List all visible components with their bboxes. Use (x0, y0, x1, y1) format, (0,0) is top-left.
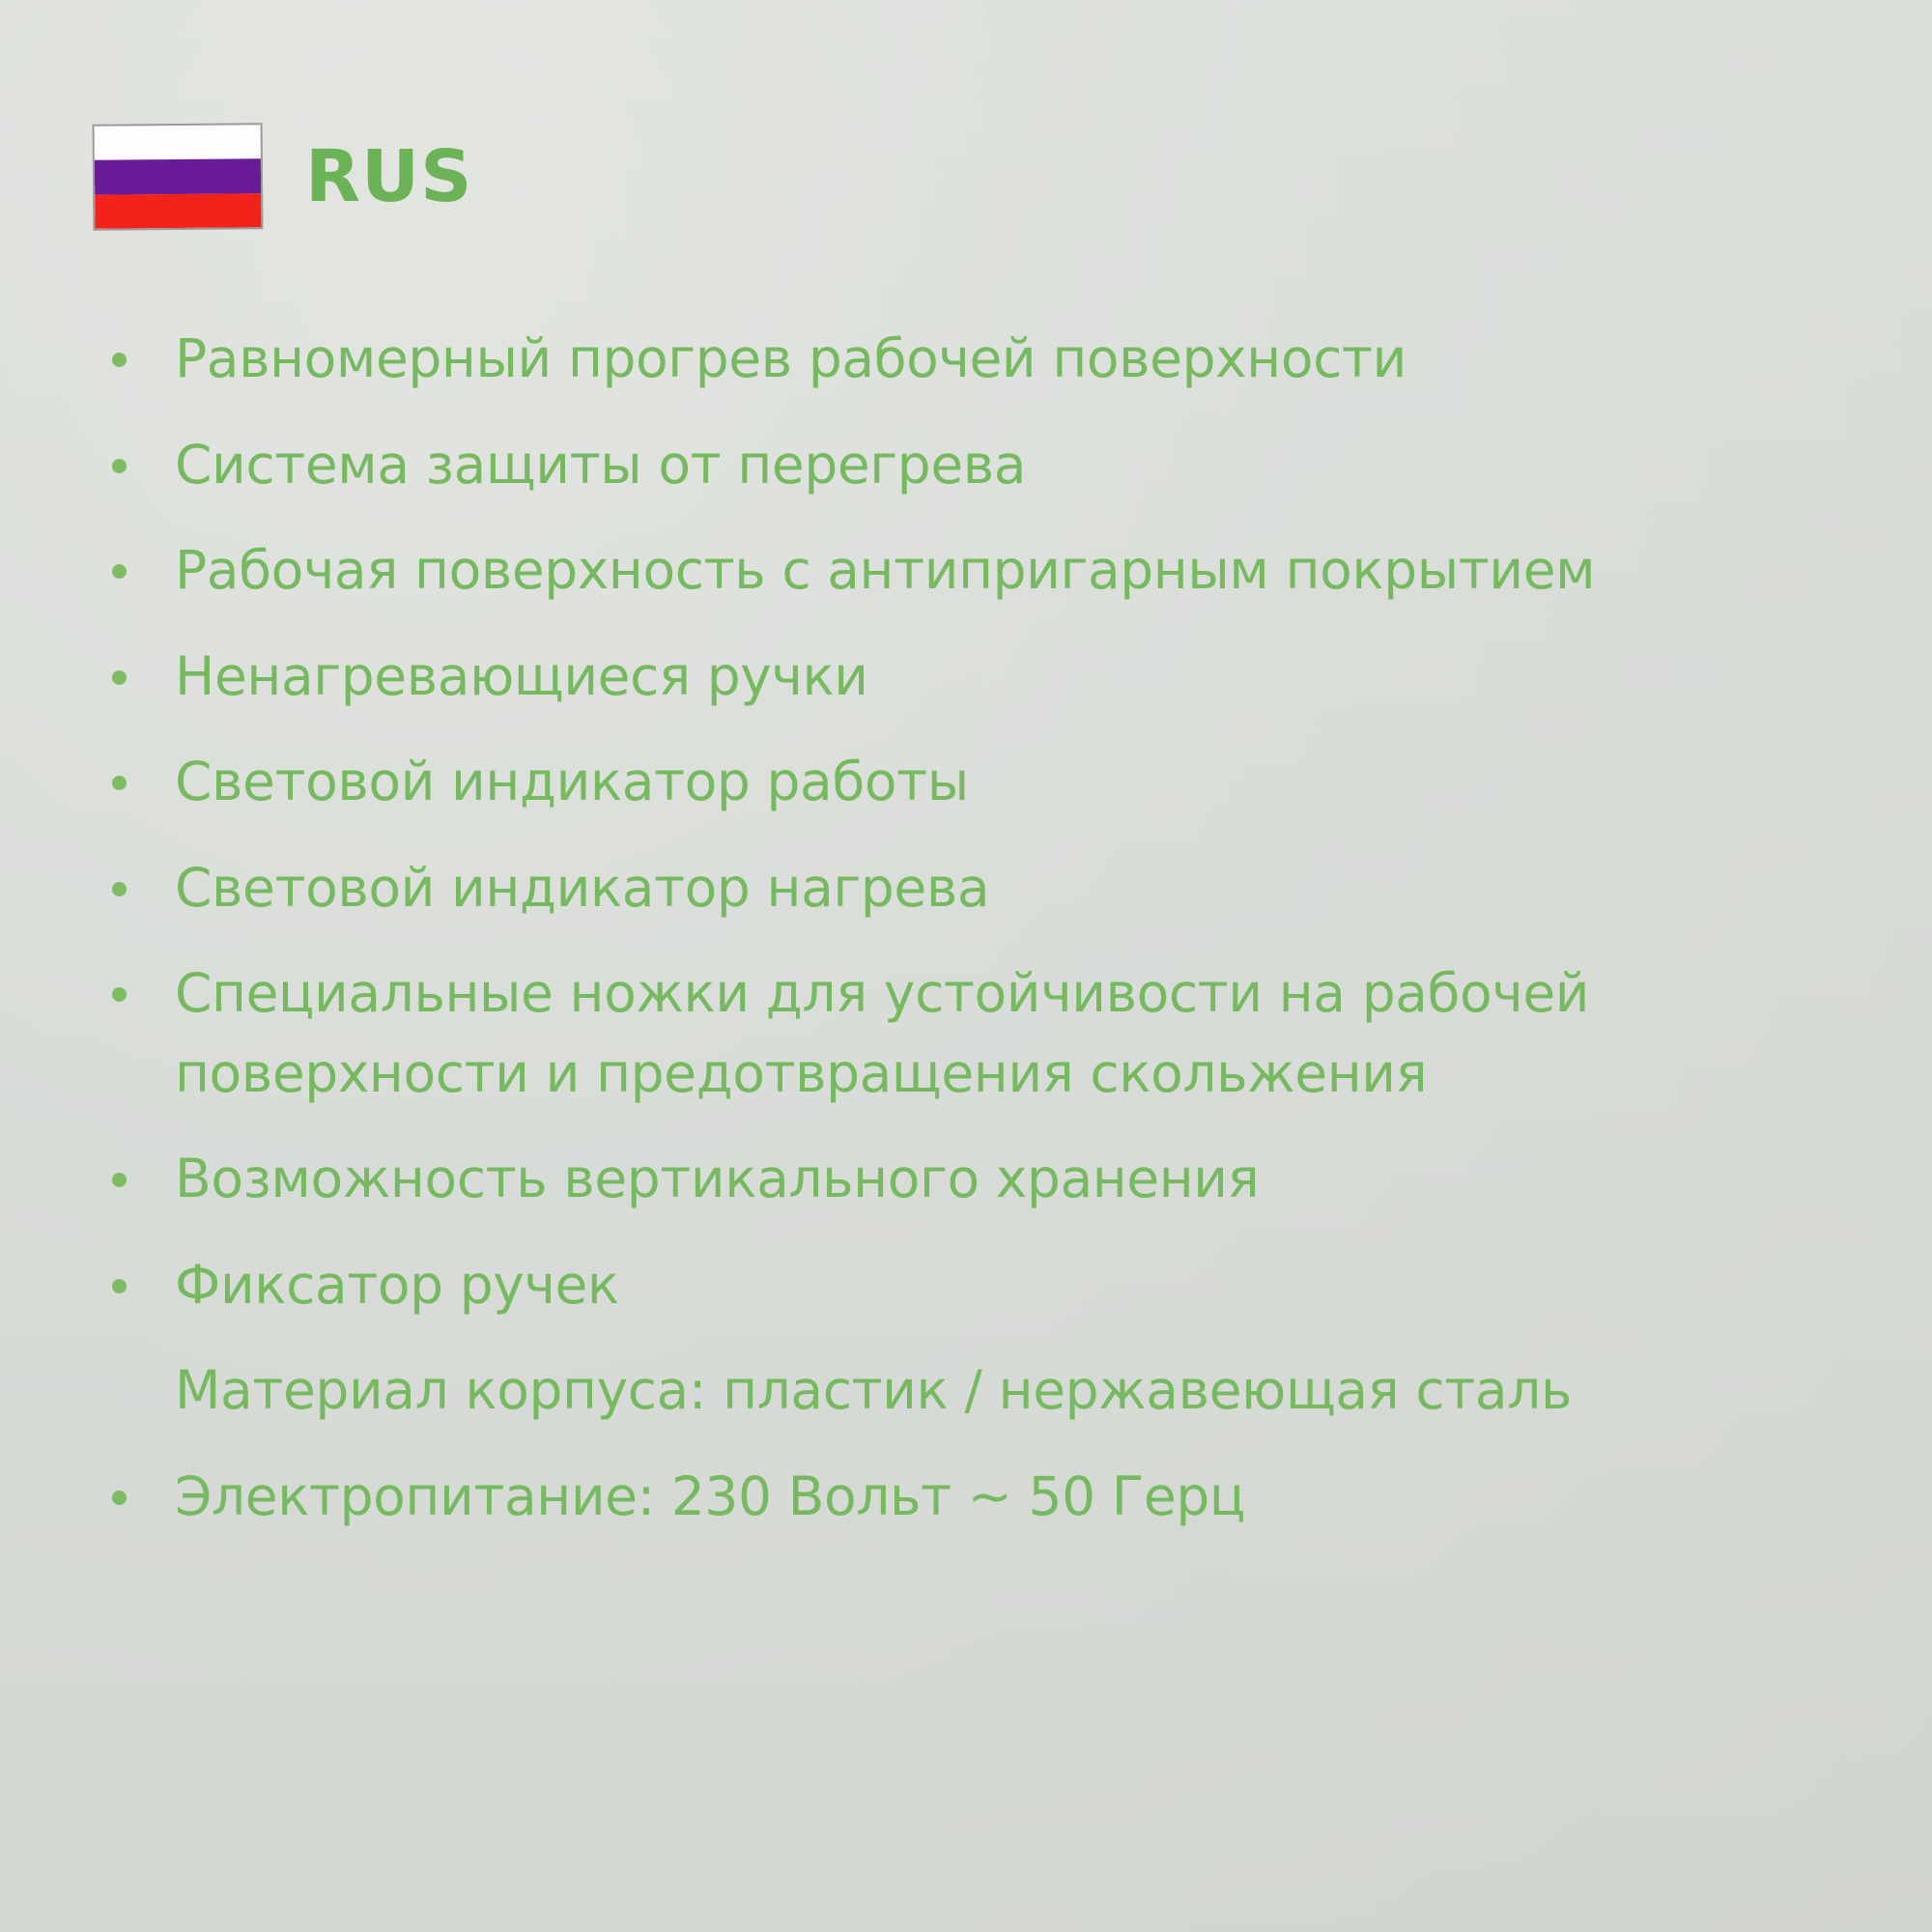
language-code-label: RUS (305, 141, 472, 213)
feature-item-label: Электропитание: 230 Вольт ~ 50 Герц (175, 1457, 1851, 1537)
bullet-icon (112, 564, 127, 579)
bullet-icon (112, 1279, 127, 1293)
russian-flag-icon (93, 123, 264, 231)
feature-item-label: Система защиты от перегрева (175, 425, 1851, 505)
bullet-icon (112, 670, 127, 685)
feature-item-label: Световой индикатор работы (175, 742, 1851, 822)
feature-item-label: Ненагревающиеся ручки (175, 637, 1851, 717)
bullet-icon (112, 459, 127, 473)
language-header: RUS (93, 124, 472, 230)
bullet-icon (112, 987, 127, 1002)
feature-item-label: Возможность вертикального хранения (175, 1139, 1851, 1219)
feature-item: Специальные ножки для устойчивости на ра… (93, 953, 1851, 1113)
bullet-icon (112, 882, 127, 896)
feature-list: Равномерный прогрев рабочей поверхностиС… (93, 319, 1851, 1562)
feature-item-label: Световой индикатор нагрева (175, 848, 1851, 928)
feature-item: Возможность вертикального хранения (93, 1139, 1851, 1219)
flag-band-white (95, 125, 261, 160)
feature-item-label: Рабочая поверхность с антипригарным покр… (175, 530, 1851, 611)
bullet-icon (112, 1173, 127, 1187)
feature-item-label: Специальные ножки для устойчивости на ра… (175, 953, 1851, 1113)
feature-item: Рабочая поверхность с антипригарным покр… (93, 530, 1851, 611)
feature-item-label: Материал корпуса: пластик / нержавеющая … (175, 1350, 1851, 1431)
feature-item: Фиксатор ручек (93, 1245, 1851, 1325)
bullet-icon (112, 1491, 127, 1505)
bullet-icon (112, 776, 127, 790)
flag-band-red (95, 193, 261, 229)
feature-item: Система защиты от перегрева (93, 425, 1851, 505)
packaging-spec-panel: RUS Равномерный прогрев рабочей поверхно… (0, 0, 1932, 1932)
feature-item: Равномерный прогрев рабочей поверхности (93, 319, 1851, 399)
feature-item: Ненагревающиеся ручки (93, 637, 1851, 717)
flag-band-blue (95, 159, 261, 195)
feature-item-label: Равномерный прогрев рабочей поверхности (175, 319, 1851, 399)
feature-item: Световой индикатор нагрева (93, 848, 1851, 928)
feature-item: Световой индикатор работы (93, 742, 1851, 822)
bullet-icon (112, 353, 127, 367)
feature-item-label: Фиксатор ручек (175, 1245, 1851, 1325)
feature-item: Электропитание: 230 Вольт ~ 50 Герц (93, 1457, 1851, 1537)
feature-item: Материал корпуса: пластик / нержавеющая … (93, 1350, 1851, 1431)
